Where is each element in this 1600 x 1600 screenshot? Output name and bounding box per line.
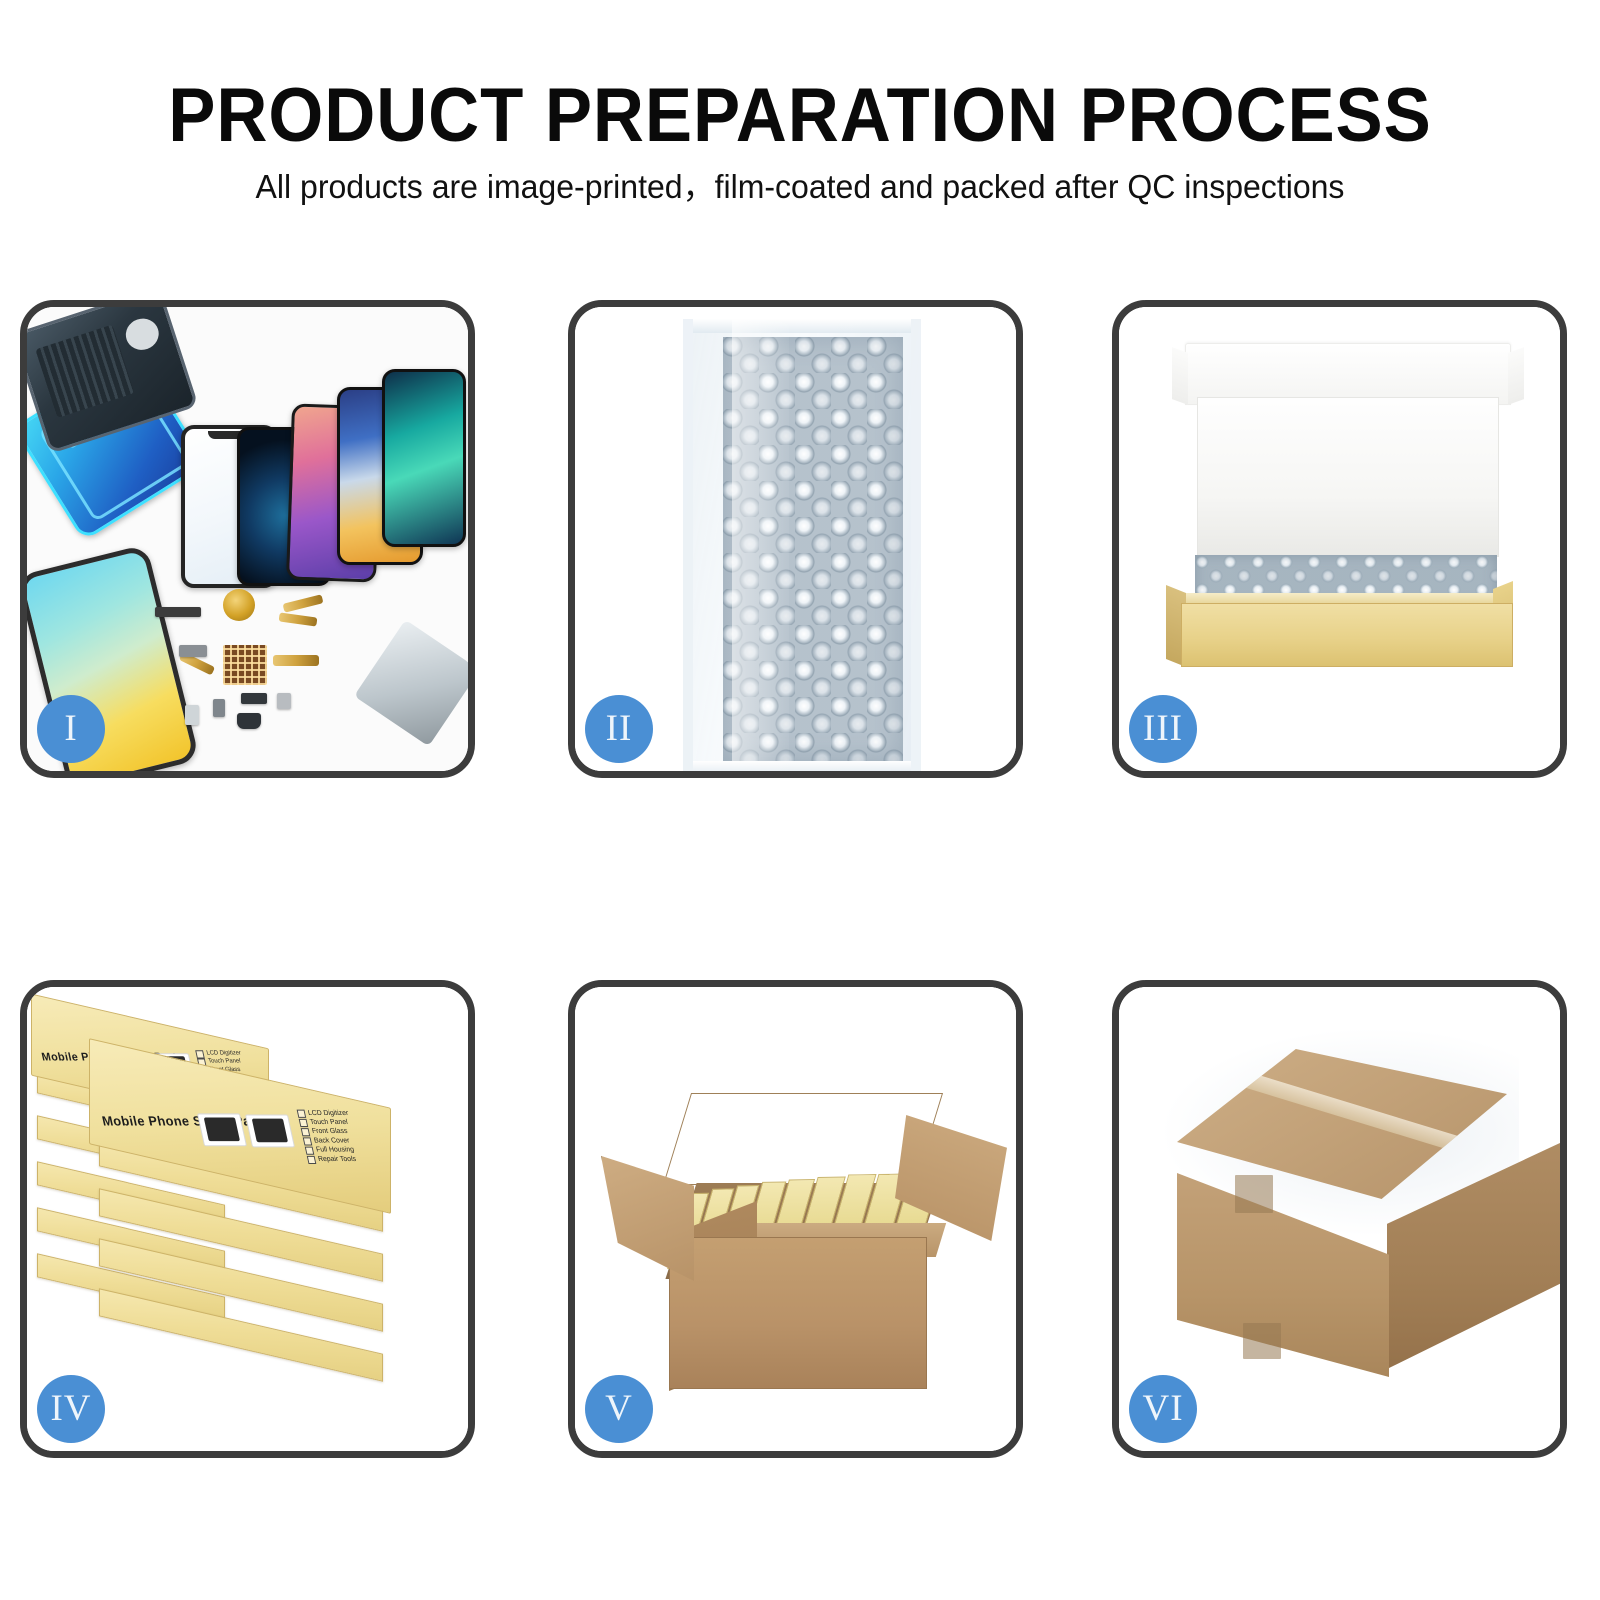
step-image-4: Mobile Phone Spare Parts LCD Digitizer T… — [27, 987, 468, 1451]
small-chip-part-1 — [179, 645, 207, 657]
step-image-6 — [1119, 987, 1560, 1451]
box-photo-front-2 — [245, 1115, 295, 1148]
step-image-1 — [27, 307, 468, 771]
step-panel-5[interactable]: V — [568, 980, 1023, 1458]
phone-parts-scene — [27, 307, 468, 771]
small-chip-part-2 — [241, 693, 267, 704]
checklist-item: Front Glass — [311, 1128, 348, 1137]
bubble-wrap-pouch — [683, 319, 921, 771]
sim-tray-part — [185, 705, 199, 725]
step-badge-6: VI — [1129, 1375, 1197, 1443]
step-panel-3[interactable]: III — [1112, 300, 1567, 778]
checklist-item: Touch Panel — [309, 1119, 349, 1128]
connector-grid-part — [223, 645, 267, 685]
checklist-item: Full Housing — [315, 1146, 355, 1155]
step-badge-1: I — [37, 695, 105, 763]
box-checklist-front: LCD Digitizer Touch Panel Front Glass Ba… — [297, 1110, 360, 1165]
checklist-item: Back Cover — [313, 1137, 350, 1146]
mailer-box-scene — [1119, 307, 1560, 771]
step-badge-2: II — [585, 695, 653, 763]
tweezers-tool — [354, 620, 468, 747]
camera-module-part — [237, 713, 261, 729]
bubble-wrap-scene — [575, 307, 1016, 771]
step-image-5 — [575, 987, 1016, 1451]
carton-body — [669, 1237, 927, 1389]
step-image-2 — [575, 307, 1016, 771]
box-photo-front-1 — [197, 1113, 247, 1146]
box-label-front: Mobile Phone Spare Parts — [100, 1113, 269, 1128]
packing-tape-tab-bottom — [1243, 1323, 1281, 1359]
pouch-seal-top — [693, 319, 911, 333]
packing-tape-tab-top — [1235, 1175, 1273, 1213]
flex-cable-part-2 — [279, 612, 318, 626]
checklist-item: Touch Panel — [208, 1059, 242, 1067]
step-panel-4[interactable]: Mobile Phone Spare Parts LCD Digitizer T… — [20, 980, 475, 1458]
flex-cable-part-1 — [283, 594, 324, 612]
process-steps-grid: I II — [0, 0, 1600, 1600]
step-panel-6[interactable]: VI — [1112, 980, 1567, 1458]
gold-coil-part — [223, 589, 255, 621]
open-carton-scene — [575, 987, 1016, 1451]
step-panel-1[interactable]: I — [20, 300, 475, 778]
checklist-item: LCD Digitizer — [307, 1110, 349, 1119]
mailer-lid-flap — [1185, 343, 1511, 405]
mailer-inner-wall — [1197, 397, 1499, 557]
flex-cable-part-3 — [273, 655, 319, 666]
small-chip-part-4 — [213, 699, 225, 717]
sealed-carton-scene — [1119, 987, 1560, 1451]
step-panel-2[interactable]: II — [568, 300, 1023, 778]
mailer-front-panel — [1181, 603, 1513, 667]
pouch-seal-bottom — [693, 761, 911, 771]
step-badge-3: III — [1129, 695, 1197, 763]
step-badge-4: IV — [37, 1375, 105, 1443]
step-badge-5: V — [585, 1375, 653, 1443]
teal-phone-part — [382, 369, 466, 547]
stacked-boxes-scene: Mobile Phone Spare Parts LCD Digitizer T… — [27, 987, 468, 1451]
checklist-item: Repair Tools — [317, 1156, 357, 1165]
small-chip-part-3 — [277, 693, 291, 709]
step-image-3 — [1119, 307, 1560, 771]
bubble-grid — [723, 337, 903, 761]
checklist-item: LCD Digitizer — [206, 1050, 242, 1058]
speaker-mesh-part — [155, 607, 201, 617]
